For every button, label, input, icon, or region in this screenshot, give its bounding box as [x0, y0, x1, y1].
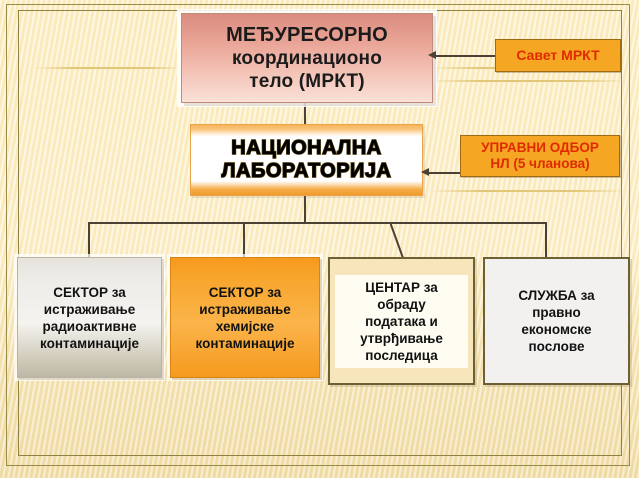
lab-line-1: НАЦИОНАЛНА [222, 137, 392, 160]
dept-2-line-1: обраду [337, 296, 466, 313]
arrow-council-head-icon [428, 51, 436, 59]
board-line-2: НЛ (5 чланова) [481, 156, 599, 172]
sector-chemical-contamination-box[interactable]: СЕКТОР за истраживање хемијске контамина… [170, 257, 320, 378]
center-data-processing-box[interactable]: ЦЕНТАР за обраду података и утврђивање п… [328, 257, 475, 385]
decorative-rule-right-bottom [430, 190, 626, 192]
national-laboratory-box[interactable]: НАЦИОНАЛНА ЛАБОРАТОРИЈА [190, 124, 423, 196]
mrkt-line-1: МЕЂУРЕСОРНО [226, 23, 388, 47]
dept-0-line-2: радиоактивне [40, 318, 139, 335]
dept-0-line-0: СЕКТОР за [40, 284, 139, 301]
decorative-rule-left [34, 67, 184, 69]
board-line-1: УПРАВНИ ОДБОР [481, 140, 599, 156]
council-mrkt-label: Савет МРКТ [516, 47, 599, 64]
dept-3-line-1: правно [518, 304, 594, 321]
decorative-rule-right-mid [430, 80, 626, 82]
slide-canvas: МЕЂУРЕСОРНО координационо тело (МРКТ) НА… [0, 0, 639, 478]
dept-2-line-3: утврђивање [337, 330, 466, 347]
interministerial-coordination-body-box[interactable]: МЕЂУРЕСОРНО координационо тело (МРКТ) [181, 13, 433, 103]
arrow-board-head-icon [421, 168, 429, 176]
dept-3-line-0: СЛУЖБА за [518, 287, 594, 304]
dept-0-line-1: истраживање [40, 301, 139, 318]
connector-branch-legal-service [545, 222, 547, 258]
dept-1-line-2: хемијске [196, 318, 295, 335]
dept-1-line-1: истраживање [196, 301, 295, 318]
connector-branch-sector-radioactive [88, 222, 90, 258]
dept-1-line-3: контаминације [196, 335, 295, 352]
mrkt-line-3: тело (МРКТ) [226, 70, 388, 93]
dept-0-line-3: контаминације [40, 335, 139, 352]
connector-horizontal-bus [88, 222, 547, 224]
mrkt-line-2: координационо [226, 47, 388, 70]
dept-2-line-2: података и [337, 313, 466, 330]
dept-2-line-0: ЦЕНТАР за [337, 279, 466, 296]
connector-branch-sector-chemical [243, 222, 245, 258]
lab-line-2: ЛАБОРАТОРИЈА [222, 160, 392, 183]
arrow-board-shaft [428, 172, 460, 174]
dept-1-line-0: СЕКТОР за [196, 284, 295, 301]
dept-2-line-4: последица [337, 347, 466, 364]
dept-3-line-3: послове [518, 338, 594, 355]
management-board-callout[interactable]: УПРАВНИ ОДБОР НЛ (5 чланова) [460, 135, 620, 177]
sector-radioactive-contamination-box[interactable]: СЕКТОР за истраживање радиоактивне конта… [17, 257, 162, 378]
arrow-council-shaft [435, 55, 495, 57]
connector-branch-center-data [390, 222, 404, 258]
legal-economic-service-box[interactable]: СЛУЖБА за правно економске послове [483, 257, 630, 385]
council-mrkt-callout[interactable]: Савет МРКТ [495, 39, 621, 72]
connector-lab-to-bus [304, 196, 306, 223]
dept-3-line-2: економске [518, 321, 594, 338]
